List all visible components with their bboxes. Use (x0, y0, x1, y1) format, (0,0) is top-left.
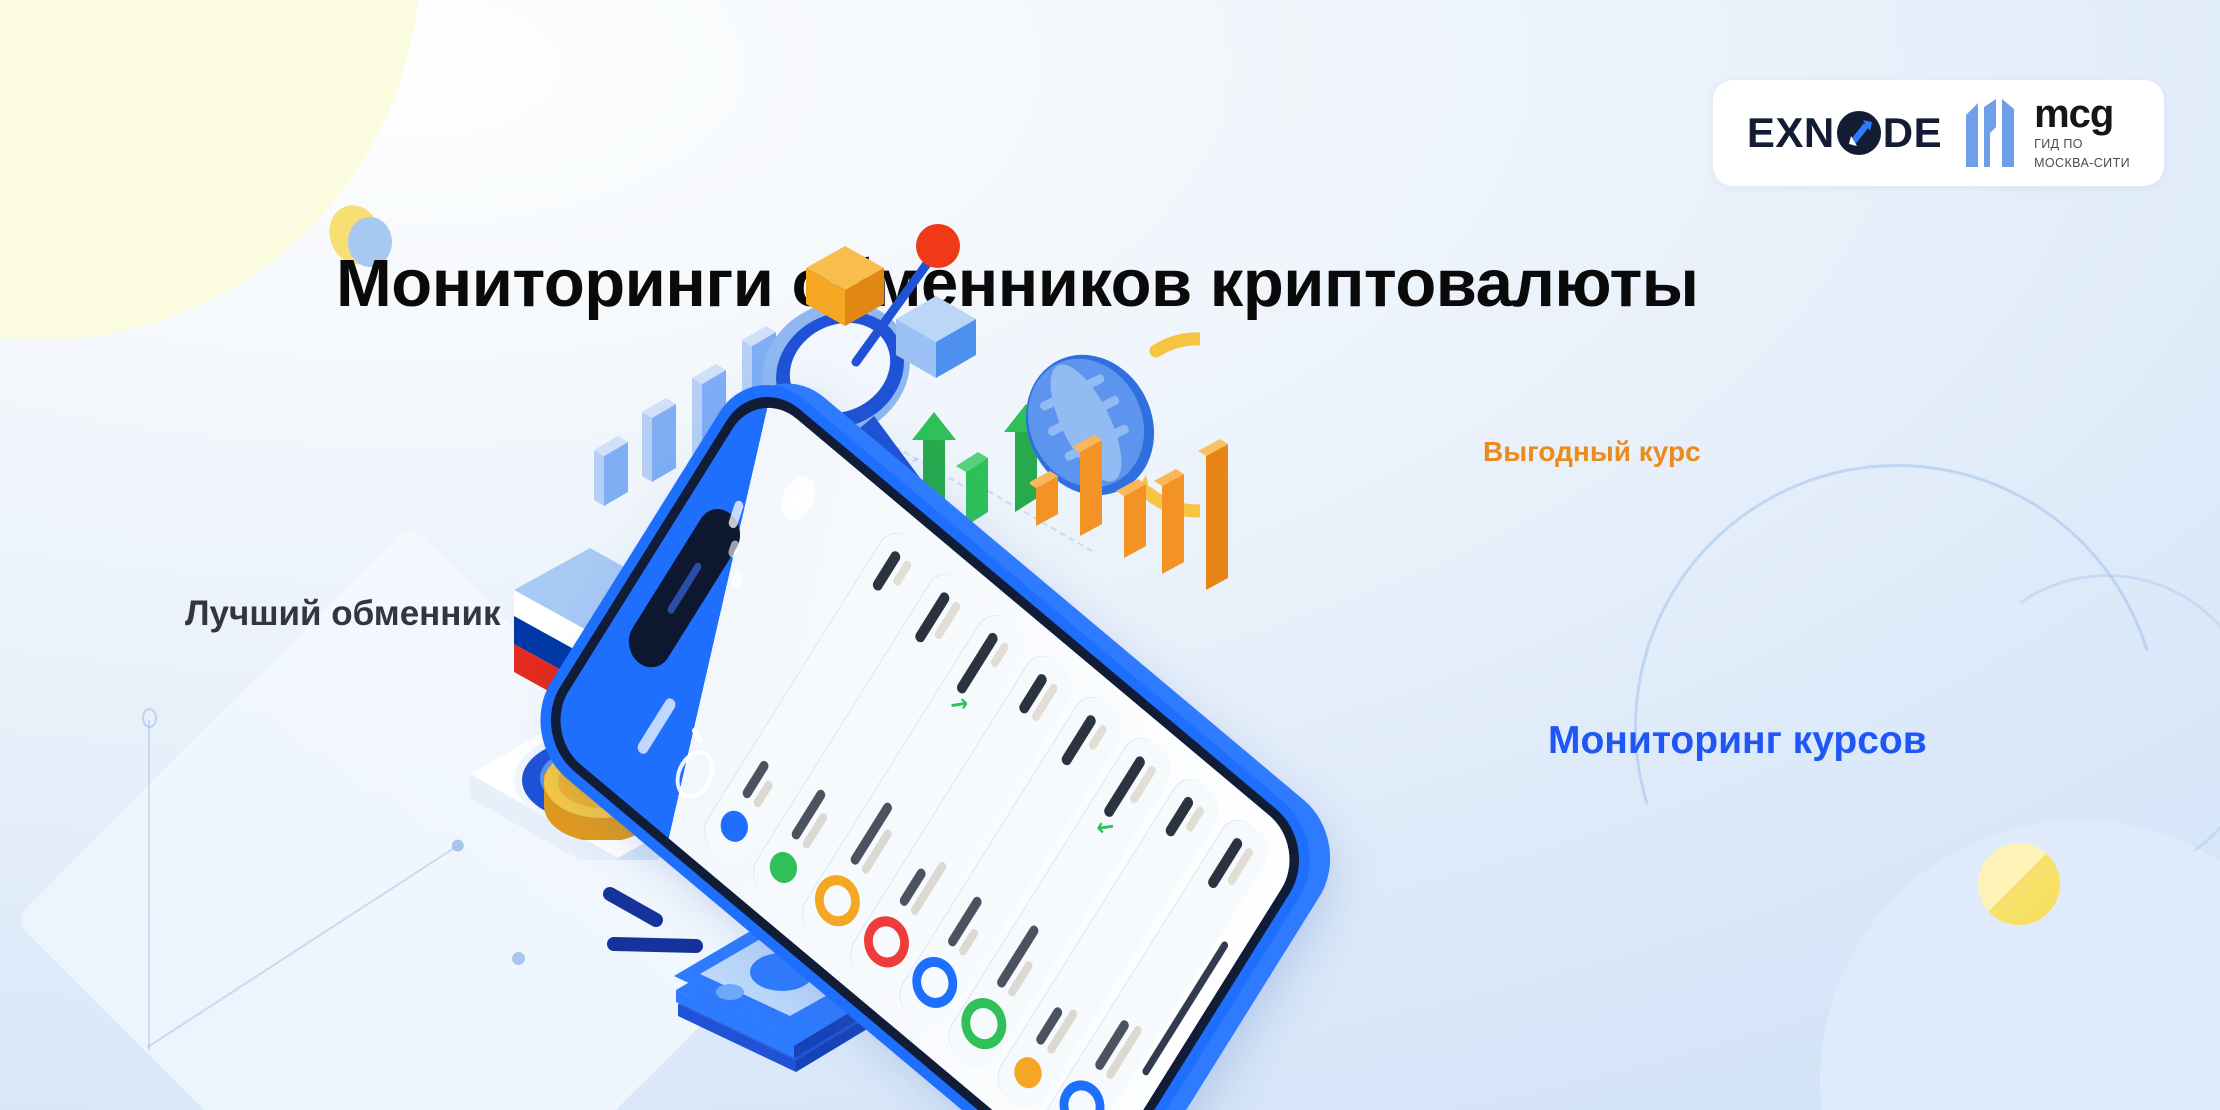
mcg-logo: mcg ГИД ПО МОСКВА-СИТИ (1964, 94, 2130, 171)
exchange-name-placeholder (790, 788, 837, 850)
phone-camera-icon (774, 469, 822, 528)
rate-value-placeholder (1017, 672, 1059, 725)
exchange-name-placeholder (849, 801, 904, 876)
phone-status-bar-item (727, 499, 744, 529)
exnode-logo-text-right: DE (1883, 109, 1942, 157)
exnode-logo: EXN DE (1747, 109, 1942, 157)
rate-value-placeholder (1164, 795, 1206, 848)
currency-dot-icon (765, 846, 803, 890)
background-dot-yellow (1978, 843, 2060, 925)
mcg-towers-icon (1964, 97, 2022, 169)
exchange-name-placeholder (995, 924, 1050, 999)
currency-dot-icon (1051, 1070, 1113, 1110)
rate-value-placeholder (1206, 836, 1254, 899)
exchange-name-placeholder (898, 850, 948, 916)
orange-bar-chart (1030, 430, 1260, 640)
row-spacer (895, 722, 949, 808)
exchange-name-placeholder (947, 895, 994, 957)
currency-dot-icon (806, 865, 868, 937)
currency-dot-icon (904, 947, 966, 1019)
exchange-name-placeholder (1093, 1014, 1143, 1080)
exchange-name-placeholder (741, 759, 781, 809)
currency-dot-icon (716, 805, 754, 849)
label-best-exchange: Лучший обменник (185, 594, 500, 634)
row-spacer (1042, 845, 1096, 931)
logo-plate: EXN DE mcg ГИД ПО МОСКВА-СИТИ (1713, 80, 2164, 186)
background-trend-endpoint (512, 952, 525, 965)
hero-illustration: ₿ ₿ (560, 280, 1720, 1110)
mcg-tagline-line2: МОСКВА-СИТИ (2034, 156, 2130, 172)
mcg-word: mcg (2034, 94, 2130, 134)
exnode-logo-text-left: EXN (1747, 109, 1835, 157)
currency-dot-icon (953, 988, 1015, 1060)
mcg-tagline-line1: ГИД ПО (2034, 137, 2130, 153)
rate-value-placeholder (871, 549, 913, 602)
phone-speaker (666, 561, 702, 615)
phone-header-title (636, 696, 678, 756)
currency-dot-icon (1009, 1051, 1047, 1095)
currency-dot-icon (855, 906, 917, 978)
phone-status-bar-item (730, 571, 744, 590)
phone-header-accent (691, 727, 704, 744)
rate-value-placeholder (1060, 713, 1108, 776)
rate-value-placeholder (955, 631, 1010, 705)
exchange-name-placeholder (1034, 998, 1078, 1055)
mcg-logo-text: mcg ГИД ПО МОСКВА-СИТИ (2034, 94, 2130, 171)
exchange-arrows-icon (1837, 111, 1881, 155)
background-axis-vertical (148, 720, 150, 1050)
promo-banner: EXN DE mcg ГИД ПО МОСКВА-СИТИ (0, 0, 2220, 1110)
phone-header-avatar (668, 741, 723, 807)
cube-blue-icon (890, 290, 982, 384)
rate-value-placeholder (1102, 754, 1157, 828)
rate-value-placeholder (913, 590, 961, 653)
